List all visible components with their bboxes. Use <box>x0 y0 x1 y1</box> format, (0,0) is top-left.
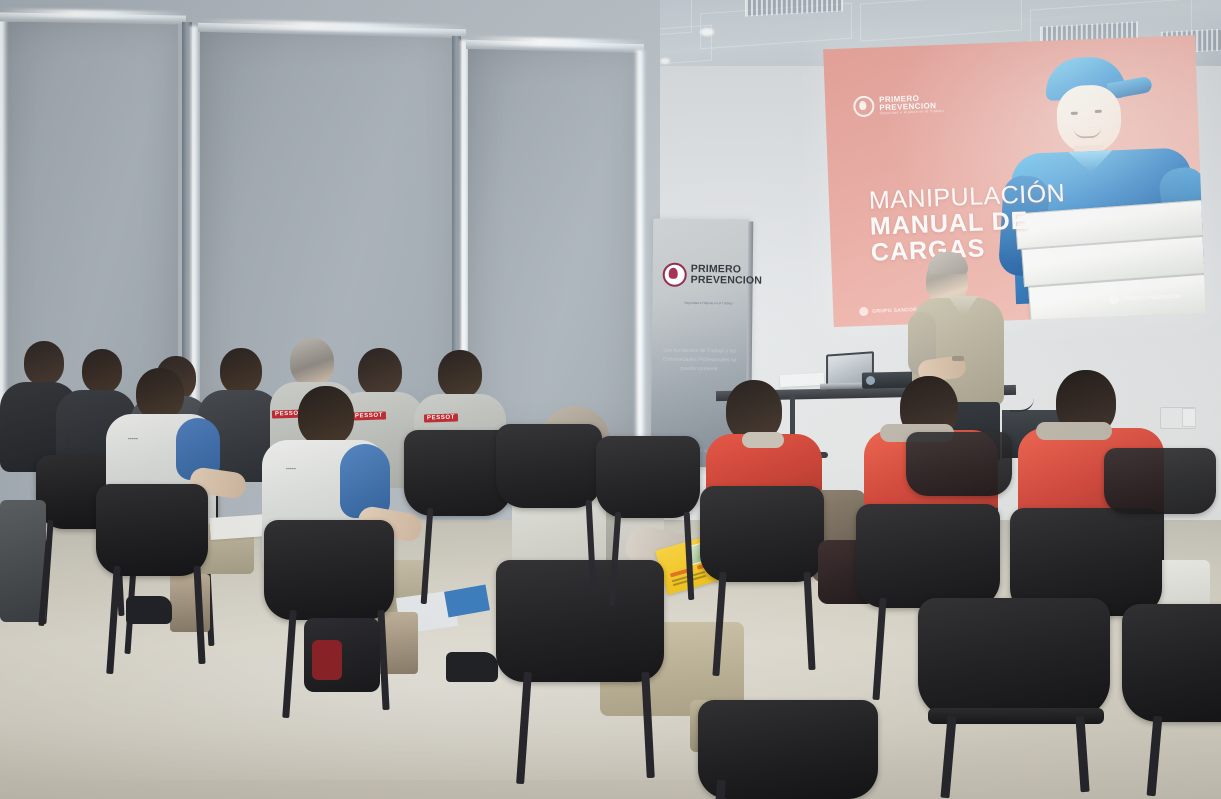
chair[interactable] <box>700 486 824 582</box>
attendee-head <box>82 349 122 393</box>
banner-logo-line2: PREVENCION <box>691 275 763 287</box>
window-light-edge <box>634 50 646 440</box>
chair[interactable] <box>496 424 602 508</box>
shirt-collar <box>1036 422 1112 440</box>
brand-mark-icon <box>1109 294 1119 304</box>
attendee-leg <box>170 574 210 632</box>
chair[interactable] <box>496 560 664 682</box>
uniform-badge: PESSOT <box>424 413 458 422</box>
attendee-head <box>298 386 354 446</box>
raglan-sleeve <box>340 444 390 518</box>
attendee-head <box>438 350 482 398</box>
attendee-head <box>24 341 64 385</box>
notepad <box>209 514 268 540</box>
chair[interactable] <box>96 484 208 576</box>
chair[interactable] <box>918 598 1110 718</box>
brand-mark-icon <box>859 307 868 316</box>
roller-blind[interactable] <box>468 46 640 436</box>
slide-logo: PRIMERO PREVENCION Seguridad e Higiene e… <box>853 93 944 117</box>
chair[interactable] <box>596 436 700 518</box>
banner-tagline: Seguridad e Higiene en el Trabajo <box>684 301 742 306</box>
attendee-head <box>358 348 402 396</box>
attendee-head <box>220 348 262 394</box>
shirt-print: ● ● ● ● <box>66 428 69 448</box>
shirt-collar <box>742 432 784 448</box>
chair[interactable] <box>1104 448 1216 514</box>
projection-screen: PRIMERO PREVENCION Seguridad e Higiene e… <box>822 15 1213 329</box>
attendee-head <box>136 368 184 420</box>
banner-body-text: Los Accidentes de Trabajo y las Enfermed… <box>660 347 740 374</box>
chair[interactable] <box>264 520 394 620</box>
chair[interactable] <box>906 432 1012 496</box>
wall-power-outlet <box>1182 408 1196 427</box>
slide-title: MANIPULACIÓN MANUAL DE CARGAS <box>868 180 1067 265</box>
presentation-slide: PRIMERO PREVENCION Seguridad e Higiene e… <box>823 35 1205 327</box>
backpack-panel <box>312 640 342 680</box>
training-room-photo: PRIMERO PREVENCION Seguridad e Higiene e… <box>0 0 1221 799</box>
projector-lens <box>866 376 875 385</box>
chair[interactable] <box>1122 604 1221 722</box>
ceiling-light-reflection <box>660 58 670 64</box>
window-light-edge <box>0 18 8 422</box>
shirt-print: ● ● ● ● ● <box>6 418 9 443</box>
eye <box>1095 110 1102 113</box>
shield-drop-icon <box>853 95 875 117</box>
eye <box>1071 112 1078 115</box>
face <box>1056 84 1123 154</box>
attendee-head-gray <box>290 338 334 386</box>
slide-logo-tagline: Seguridad e Higiene en el Trabajo <box>880 110 945 116</box>
banner-logo: PRIMERO PREVENCION <box>663 263 763 288</box>
shirt-print: ▪▪▪▪▪ <box>128 436 138 441</box>
shield-drop-icon <box>663 263 687 287</box>
wristwatch <box>952 356 964 361</box>
chair-leg <box>715 780 726 799</box>
uniform-badge: PESSOT <box>352 411 386 420</box>
ceiling-light-reflection <box>700 28 714 36</box>
shoe <box>126 596 172 624</box>
shirt-print: ▪▪▪▪▪ <box>286 466 296 471</box>
shoe <box>446 652 498 682</box>
papers-on-desk <box>780 373 825 387</box>
presenter-hair <box>928 252 968 274</box>
slide-footer-right-text: PRIMERO PREVENCION <box>1123 294 1181 302</box>
chair[interactable] <box>856 504 1000 608</box>
